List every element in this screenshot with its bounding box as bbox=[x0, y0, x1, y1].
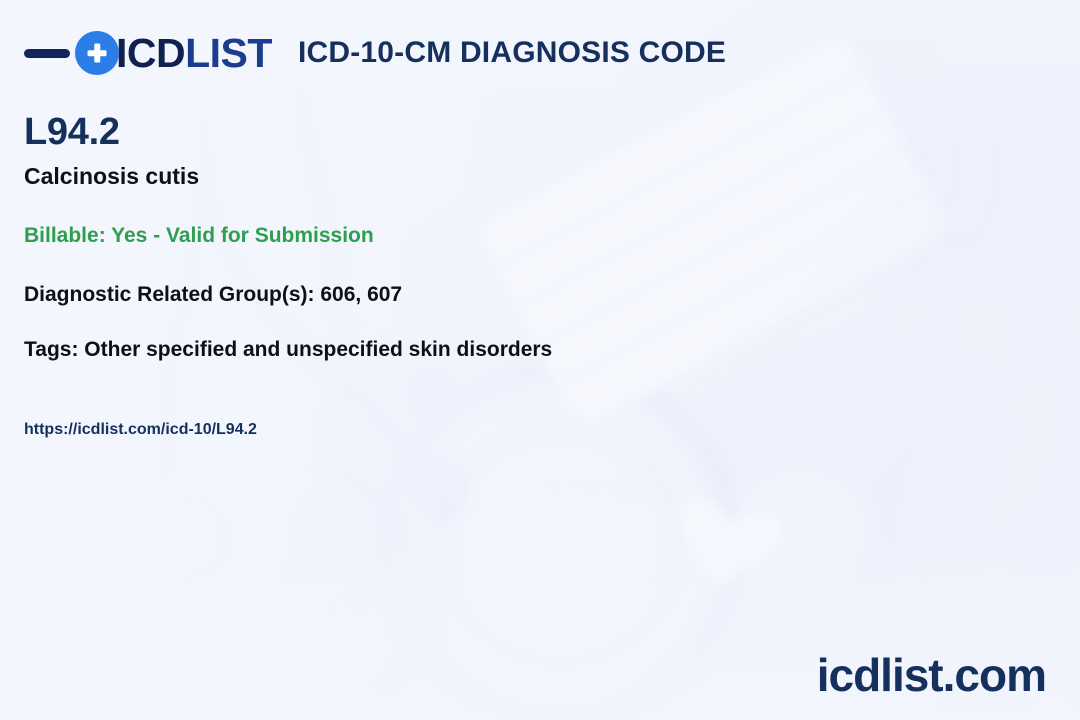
diagnosis-code: L94.2 bbox=[24, 112, 844, 154]
logo-text-icd: ICD bbox=[116, 33, 185, 74]
icd-code-card: ICD LIST ICD-10-CM DIAGNOSIS CODE L94.2 … bbox=[0, 0, 1080, 720]
code-details: L94.2 Calcinosis cutis Billable: Yes - V… bbox=[24, 112, 844, 439]
site-watermark: icdlist.com bbox=[817, 652, 1046, 698]
drg-line: Diagnostic Related Group(s): 606, 607 bbox=[24, 282, 844, 307]
page-title: ICD-10-CM DIAGNOSIS CODE bbox=[298, 38, 726, 68]
billable-status: Billable: Yes - Valid for Submission bbox=[24, 223, 844, 248]
source-url[interactable]: https://icdlist.com/icd-10/L94.2 bbox=[24, 420, 844, 439]
page-header: ICD LIST ICD-10-CM DIAGNOSIS CODE bbox=[24, 26, 726, 80]
diagnosis-description: Calcinosis cutis bbox=[24, 163, 844, 191]
logo-text-list: LIST bbox=[185, 33, 272, 74]
icdlist-logo[interactable]: ICD LIST bbox=[24, 26, 272, 80]
dash-icon bbox=[24, 49, 70, 58]
plus-circle-icon bbox=[75, 31, 119, 75]
tags-line: Tags: Other specified and unspecified sk… bbox=[24, 337, 844, 362]
